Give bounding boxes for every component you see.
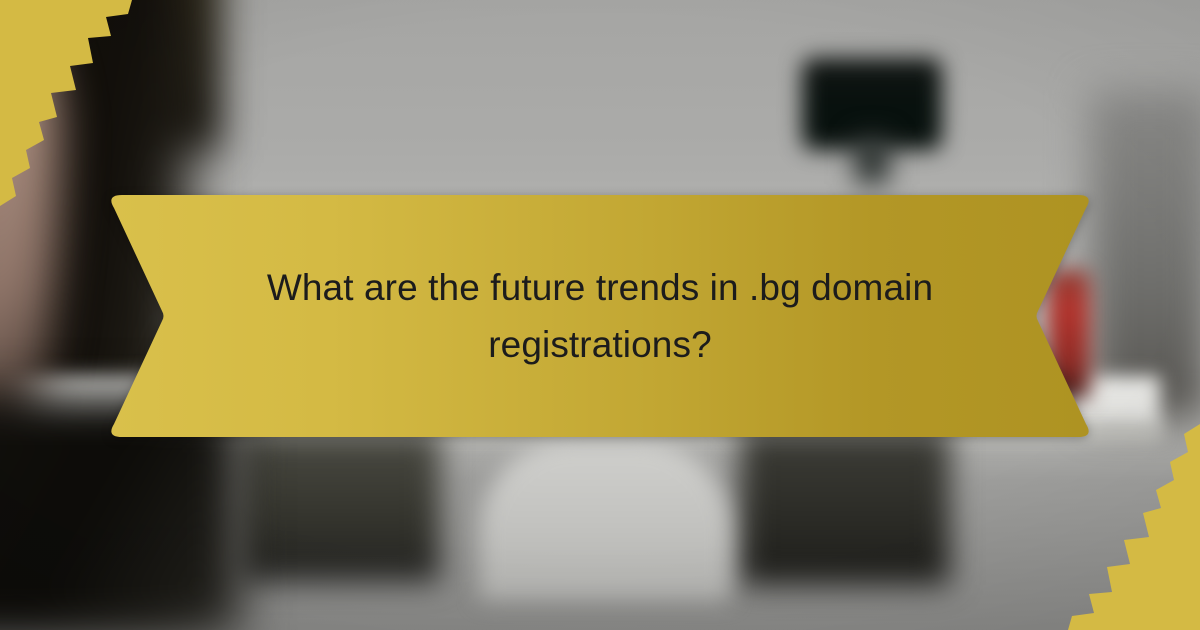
headline-ribbon: What are the future trends in .bg domain… bbox=[106, 195, 1094, 437]
headline-text: What are the future trends in .bg domain… bbox=[106, 195, 1094, 437]
torn-paper-corner-top-left bbox=[0, 0, 150, 210]
banner-card: What are the future trends in .bg domain… bbox=[0, 0, 1200, 630]
torn-paper-corner-bottom-right bbox=[1050, 420, 1200, 630]
